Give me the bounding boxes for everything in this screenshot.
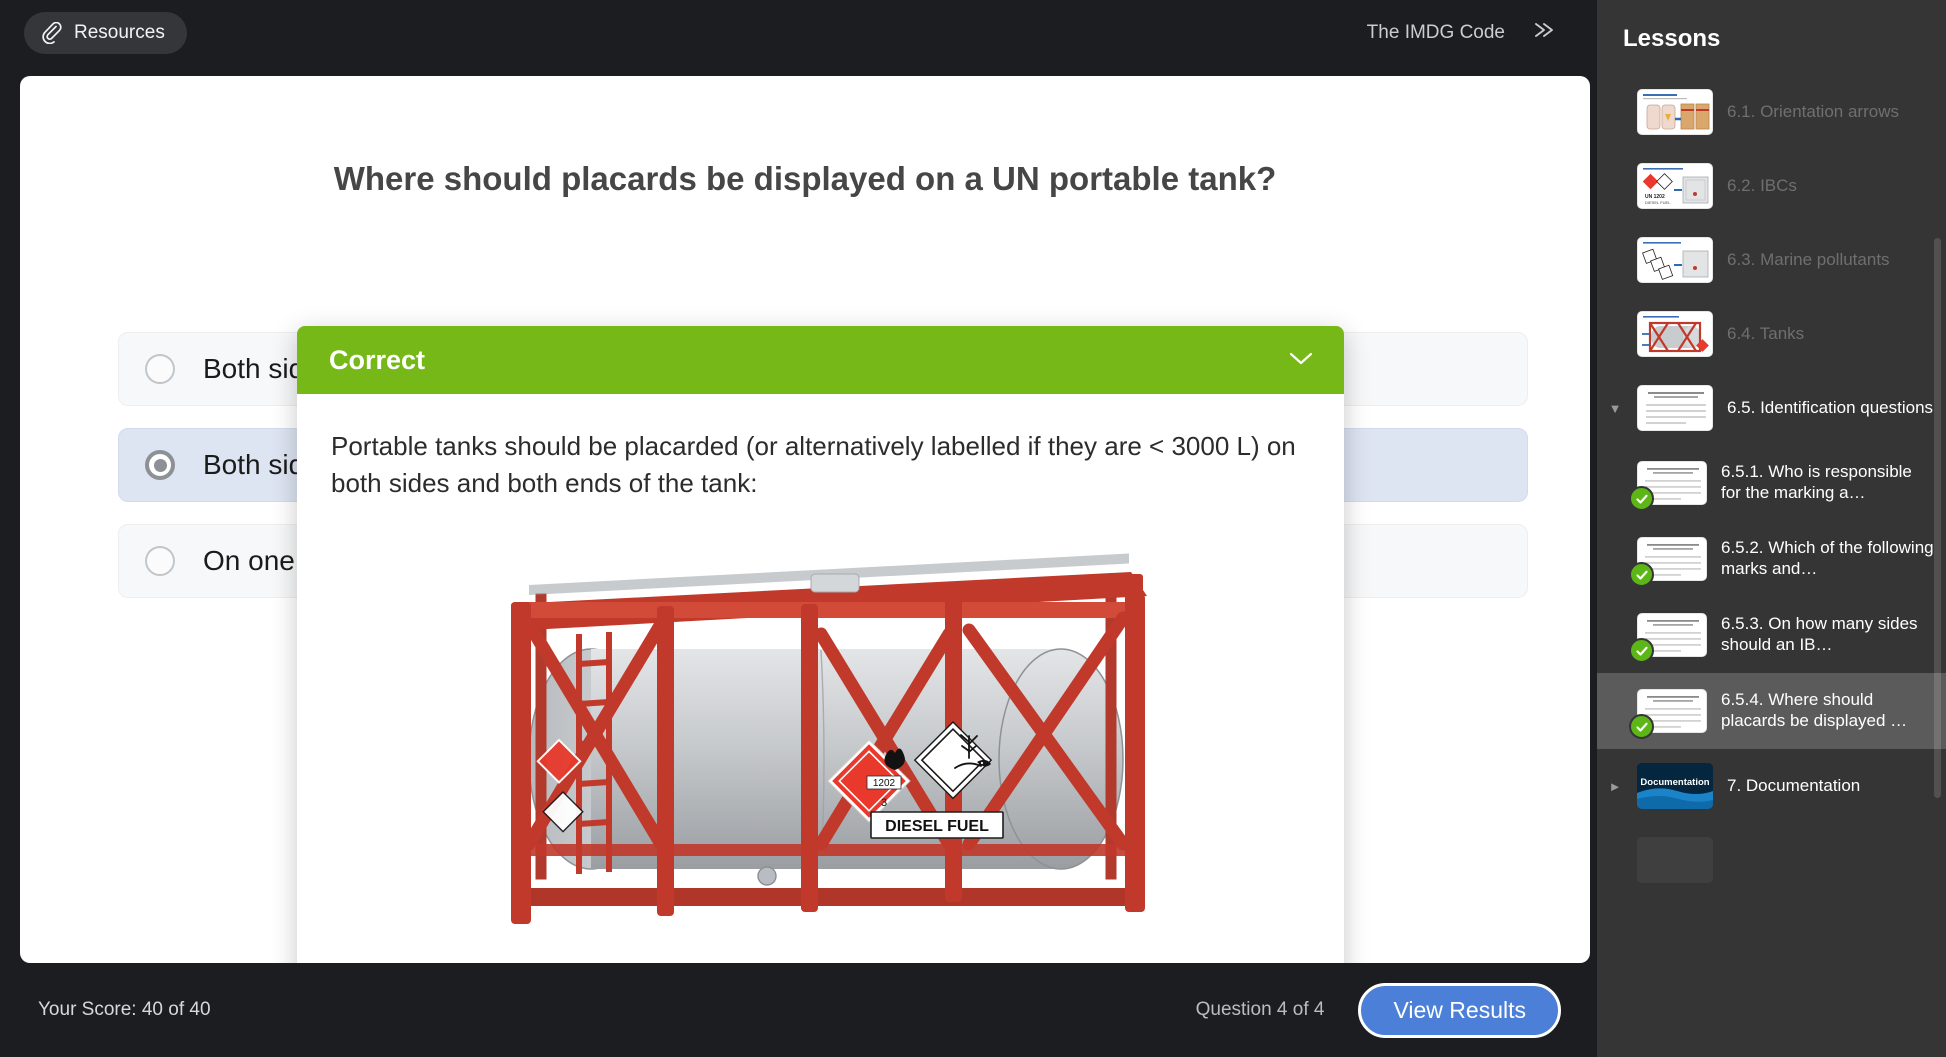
ibc-thumb: UN 1202 DIESEL FUEL xyxy=(1637,163,1713,209)
sidebar-item-6-3[interactable]: ▼ xyxy=(1597,223,1946,297)
lessons-sidebar: Lessons ▼ xyxy=(1597,0,1946,1057)
feedback-header[interactable]: Correct xyxy=(297,326,1344,394)
chevron-down-icon[interactable] xyxy=(1284,348,1318,373)
svg-text:3: 3 xyxy=(880,797,886,809)
sidebar-item-6-3-label: 6.3. Marine pollutants xyxy=(1727,250,1890,271)
question-counter: Question 4 of 4 xyxy=(1196,999,1325,1021)
feedback-dialog: Correct Portable tanks should be placard… xyxy=(297,326,1344,963)
sidebar-item-6-4[interactable]: ▼ xyxy=(1597,297,1946,371)
answer-option-1-label: Both sid xyxy=(203,353,304,385)
thumbnail-wrap xyxy=(1637,537,1707,581)
thumbnail-wrap xyxy=(1637,311,1713,357)
sidebar-item-6-4-label: 6.4. Tanks xyxy=(1727,324,1804,345)
course-title: The IMDG Code xyxy=(1367,22,1505,44)
resources-button[interactable]: Resources xyxy=(24,12,187,54)
thumbnail-wrap xyxy=(1637,613,1707,657)
sidebar-item-6-5-1[interactable]: 6.5.1. Who is responsible for the markin… xyxy=(1597,445,1946,521)
sidebar-item-6-1-label: 6.1. Orientation arrows xyxy=(1727,102,1899,123)
paperclip-icon xyxy=(42,22,62,44)
svg-text:1202: 1202 xyxy=(872,778,895,789)
sidebar-item-7-label: 7. Documentation xyxy=(1727,776,1860,797)
chevron-right-caret-icon[interactable]: ► xyxy=(1607,780,1623,793)
tank-graphic: 1202 3 xyxy=(471,544,1171,963)
thumbnail-wrap xyxy=(1637,237,1713,283)
answer-option-2-label: Both sid xyxy=(203,449,304,481)
sidebar-item-6-5-2-label: 6.5.2. Which of the following marks and… xyxy=(1721,538,1934,579)
completed-check-icon xyxy=(1629,486,1654,511)
thumbnail-wrap: Documentation xyxy=(1637,763,1713,809)
sidebar-item-6-5-3-label: 6.5.3. On how many sides should an IB… xyxy=(1721,614,1934,655)
completed-check-icon xyxy=(1629,562,1654,587)
answer-option-3-label: On one xyxy=(203,545,295,577)
thumbnail-wrap xyxy=(1637,837,1713,883)
sidebar-item-6-2-label: 6.2. IBCs xyxy=(1727,176,1797,197)
documentation-thumb: Documentation xyxy=(1637,763,1713,809)
thumbnail-wrap xyxy=(1637,689,1707,733)
feedback-title: Correct xyxy=(329,345,425,376)
sidebar-item-partial[interactable]: ▼ xyxy=(1597,823,1946,897)
completed-check-icon xyxy=(1629,638,1654,663)
feedback-body: Portable tanks should be placarded (or a… xyxy=(297,394,1344,963)
sidebar-item-6-5-2[interactable]: 6.5.2. Which of the following marks and… xyxy=(1597,521,1946,597)
un-portable-tank-illustration: 1202 3 xyxy=(331,534,1310,963)
top-bar: Resources The IMDG Code xyxy=(0,0,1597,65)
sidebar-item-7[interactable]: ► Documentation 7. Documentation xyxy=(1597,749,1946,823)
sidebar-item-6-5[interactable]: ▼ 6.5. Identification xyxy=(1597,371,1946,445)
sidebar-item-6-5-4-label: 6.5.4. Where should placards be displaye… xyxy=(1721,690,1934,731)
thumbnail-wrap: UN 1202 DIESEL FUEL xyxy=(1637,163,1713,209)
radio-button-2[interactable] xyxy=(145,450,175,480)
slide-card: Where should placards be displayed on a … xyxy=(20,76,1590,963)
bottom-bar-right: Question 4 of 4 View Results xyxy=(1196,983,1561,1038)
chevron-down-caret-icon[interactable]: ▼ xyxy=(1607,402,1623,415)
course-player: Resources The IMDG Code Where should pla… xyxy=(0,0,1946,1057)
documentation-thumb-text: Documentation xyxy=(1640,777,1709,788)
svg-text:DIESEL FUEL: DIESEL FUEL xyxy=(1645,200,1671,205)
sidebar-item-6-5-label: 6.5. Identification questions xyxy=(1727,398,1933,419)
sidebar-item-6-1[interactable]: ▼ xyxy=(1597,75,1946,149)
feedback-text: Portable tanks should be placarded (or a… xyxy=(331,428,1310,502)
bottom-bar: Your Score: 40 of 40 Question 4 of 4 Vie… xyxy=(0,963,1597,1057)
score-label: Your Score: 40 of 40 xyxy=(38,999,211,1021)
sidebar-scrollbar[interactable] xyxy=(1934,238,1941,798)
top-bar-right: The IMDG Code xyxy=(1367,19,1557,46)
diesel-fuel-label: DIESEL FUEL xyxy=(871,812,1003,838)
sidebar-item-6-5-1-label: 6.5.1. Who is responsible for the markin… xyxy=(1721,462,1934,503)
diesel-fuel-text: DIESEL FUEL xyxy=(885,818,989,835)
resources-label: Resources xyxy=(74,22,165,44)
orientation-arrows-thumb xyxy=(1637,89,1713,135)
radio-button-1[interactable] xyxy=(145,354,175,384)
identification-questions-thumb xyxy=(1637,385,1713,431)
radio-button-3[interactable] xyxy=(145,546,175,576)
completed-check-icon xyxy=(1629,714,1654,739)
thumbnail-wrap xyxy=(1637,89,1713,135)
sidebar-title: Lessons xyxy=(1597,0,1946,53)
tanks-thumb xyxy=(1637,311,1713,357)
partial-thumb xyxy=(1637,837,1713,883)
sidebar-item-6-5-4[interactable]: 6.5.4. Where should placards be displaye… xyxy=(1597,673,1946,749)
thumbnail-wrap xyxy=(1637,385,1713,431)
view-results-button[interactable]: View Results xyxy=(1358,983,1561,1038)
thumbnail-wrap xyxy=(1637,461,1707,505)
marine-pollutants-thumb xyxy=(1637,237,1713,283)
double-chevron-right-icon[interactable] xyxy=(1531,19,1557,46)
sidebar-item-6-2[interactable]: ▼ UN 1202 DIESEL FUEL xyxy=(1597,149,1946,223)
question-title: Where should placards be displayed on a … xyxy=(20,160,1590,198)
sidebar-item-6-5-3[interactable]: 6.5.3. On how many sides should an IB… xyxy=(1597,597,1946,673)
player-area: Resources The IMDG Code Where should pla… xyxy=(0,0,1597,1057)
lesson-list: ▼ xyxy=(1597,75,1946,897)
